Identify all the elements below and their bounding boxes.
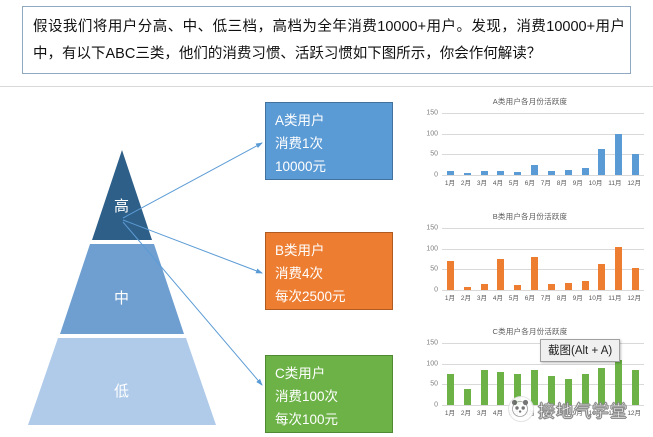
x-axis-label: 10月	[589, 292, 603, 302]
chart-b-xaxis: 1月2月3月4月5月6月7月8月9月10月11月12月	[442, 292, 644, 302]
chart-c-title: C类用户各月份活跃度	[410, 326, 650, 337]
y-axis-tick: 100	[426, 245, 438, 252]
x-axis-label: 4月	[493, 407, 503, 417]
screenshot-page: 假设我们将用户分高、中、低三档，高档为全年消费10000+用户。发现，消费100…	[0, 0, 653, 437]
y-axis-tick: 150	[426, 340, 438, 347]
x-axis-label: 6月	[525, 292, 535, 302]
category-a-line-2: 消费1次	[275, 132, 384, 155]
category-c-line-3: 每次100元	[275, 408, 384, 431]
bar[interactable]	[464, 389, 471, 405]
x-axis-label: 11月	[608, 177, 621, 187]
bar[interactable]	[615, 247, 622, 290]
category-c-line-2: 消费100次	[275, 385, 384, 408]
x-axis-label: 9月	[573, 292, 583, 302]
bar[interactable]	[481, 171, 488, 175]
bar[interactable]	[598, 149, 605, 175]
bar[interactable]	[531, 257, 538, 290]
bar[interactable]	[598, 264, 605, 290]
y-axis-tick: 0	[434, 287, 438, 294]
gridline: 0	[442, 175, 644, 176]
x-axis-label: 10月	[589, 177, 603, 187]
x-axis-label: 2月	[461, 407, 471, 417]
bar[interactable]	[565, 283, 572, 290]
pyramid-label-mid: 中	[24, 287, 220, 308]
x-axis-label: 3月	[477, 407, 487, 417]
x-axis-label: 3月	[477, 177, 487, 187]
bar-series	[442, 113, 644, 175]
y-axis-tick: 100	[426, 130, 438, 137]
panda-face-icon	[509, 397, 531, 419]
x-axis-label: 6月	[525, 177, 535, 187]
question-box: 假设我们将用户分高、中、低三档，高档为全年消费10000+用户。发现，消费100…	[22, 6, 631, 74]
category-b-line-2: 消费4次	[275, 262, 384, 285]
bar[interactable]	[514, 172, 521, 175]
watermark-text: 接地气学堂	[538, 397, 628, 422]
y-axis-tick: 100	[426, 360, 438, 367]
bar[interactable]	[615, 134, 622, 175]
category-c-line-1: C类用户	[275, 362, 384, 385]
user-tier-pyramid: 高 中 低	[24, 148, 220, 426]
category-box-a[interactable]: A类用户 消费1次 10000元	[265, 102, 393, 180]
x-axis-label: 1月	[445, 407, 455, 417]
x-axis-label: 12月	[627, 177, 641, 187]
bar[interactable]	[548, 171, 555, 175]
x-axis-label: 4月	[493, 292, 503, 302]
category-box-b[interactable]: B类用户 消费4次 每次2500元	[265, 232, 393, 310]
x-axis-label: 7月	[541, 177, 551, 187]
bar[interactable]	[632, 268, 639, 290]
chart-b-title: B类用户各月份活跃度	[410, 211, 650, 222]
gridline: 0	[442, 290, 644, 291]
watermark: 接地气学堂	[508, 396, 628, 422]
y-axis-tick: 50	[430, 381, 438, 388]
watermark-logo-icon	[508, 396, 534, 422]
x-axis-label: 7月	[541, 292, 551, 302]
bar[interactable]	[632, 154, 639, 175]
pyramid-label-high: 高	[24, 195, 220, 216]
x-axis-label: 11月	[608, 292, 621, 302]
y-axis-tick: 150	[426, 110, 438, 117]
bar[interactable]	[481, 284, 488, 290]
x-axis-label: 2月	[461, 292, 471, 302]
y-axis-tick: 0	[434, 402, 438, 409]
chart-a-xaxis: 1月2月3月4月5月6月7月8月9月10月11月12月	[442, 177, 644, 187]
x-axis-label: 5月	[509, 292, 519, 302]
bar[interactable]	[632, 370, 639, 405]
question-text: 假设我们将用户分高、中、低三档，高档为全年消费10000+用户。发现，消费100…	[33, 14, 625, 68]
bar-series	[442, 228, 644, 290]
x-axis-label: 5月	[509, 177, 519, 187]
x-axis-label: 12月	[627, 407, 641, 417]
bar[interactable]	[497, 171, 504, 175]
chart-a-title: A类用户各月份活跃度	[410, 96, 650, 107]
y-axis-tick: 150	[426, 225, 438, 232]
chart-b-plot: 050100150	[442, 228, 644, 290]
y-axis-tick: 0	[434, 172, 438, 179]
bar[interactable]	[497, 372, 504, 405]
x-axis-label: 4月	[493, 177, 503, 187]
x-axis-label: 2月	[461, 177, 471, 187]
chart-panel-a: A类用户各月份活跃度 050100150 1月2月3月4月5月6月7月8月9月1…	[410, 92, 650, 200]
bar[interactable]	[548, 284, 555, 290]
header-divider	[0, 86, 653, 87]
bar[interactable]	[531, 165, 538, 175]
bar[interactable]	[464, 173, 471, 175]
category-b-line-1: B类用户	[275, 239, 384, 262]
x-axis-label: 9月	[573, 177, 583, 187]
chart-a-body: 050100150 1月2月3月4月5月6月7月8月9月10月11月12月	[410, 109, 650, 193]
bar[interactable]	[447, 261, 454, 290]
bar[interactable]	[565, 170, 572, 175]
y-axis-tick: 50	[430, 266, 438, 273]
category-box-c[interactable]: C类用户 消费100次 每次100元	[265, 355, 393, 433]
chart-a-plot: 050100150	[442, 113, 644, 175]
x-axis-label: 8月	[557, 177, 567, 187]
category-b-line-3: 每次2500元	[275, 285, 384, 308]
chart-b-body: 050100150 1月2月3月4月5月6月7月8月9月10月11月12月	[410, 224, 650, 308]
bar[interactable]	[464, 287, 471, 290]
chart-panel-b: B类用户各月份活跃度 050100150 1月2月3月4月5月6月7月8月9月1…	[410, 207, 650, 315]
x-axis-label: 1月	[445, 292, 455, 302]
y-axis-tick: 50	[430, 151, 438, 158]
bar[interactable]	[481, 370, 488, 405]
bar[interactable]	[582, 168, 589, 175]
bar[interactable]	[582, 281, 589, 291]
bar[interactable]	[447, 374, 454, 405]
pyramid-label-low: 低	[24, 380, 220, 401]
bar[interactable]	[447, 171, 454, 175]
category-a-line-1: A类用户	[275, 109, 384, 132]
x-axis-label: 8月	[557, 292, 567, 302]
screenshot-tooltip[interactable]: 截图(Alt + A)	[540, 339, 620, 362]
x-axis-label: 1月	[445, 177, 455, 187]
x-axis-label: 3月	[477, 292, 487, 302]
category-a-line-3: 10000元	[275, 155, 384, 178]
bar[interactable]	[497, 259, 504, 290]
x-axis-label: 12月	[627, 292, 641, 302]
bar[interactable]	[514, 285, 521, 290]
